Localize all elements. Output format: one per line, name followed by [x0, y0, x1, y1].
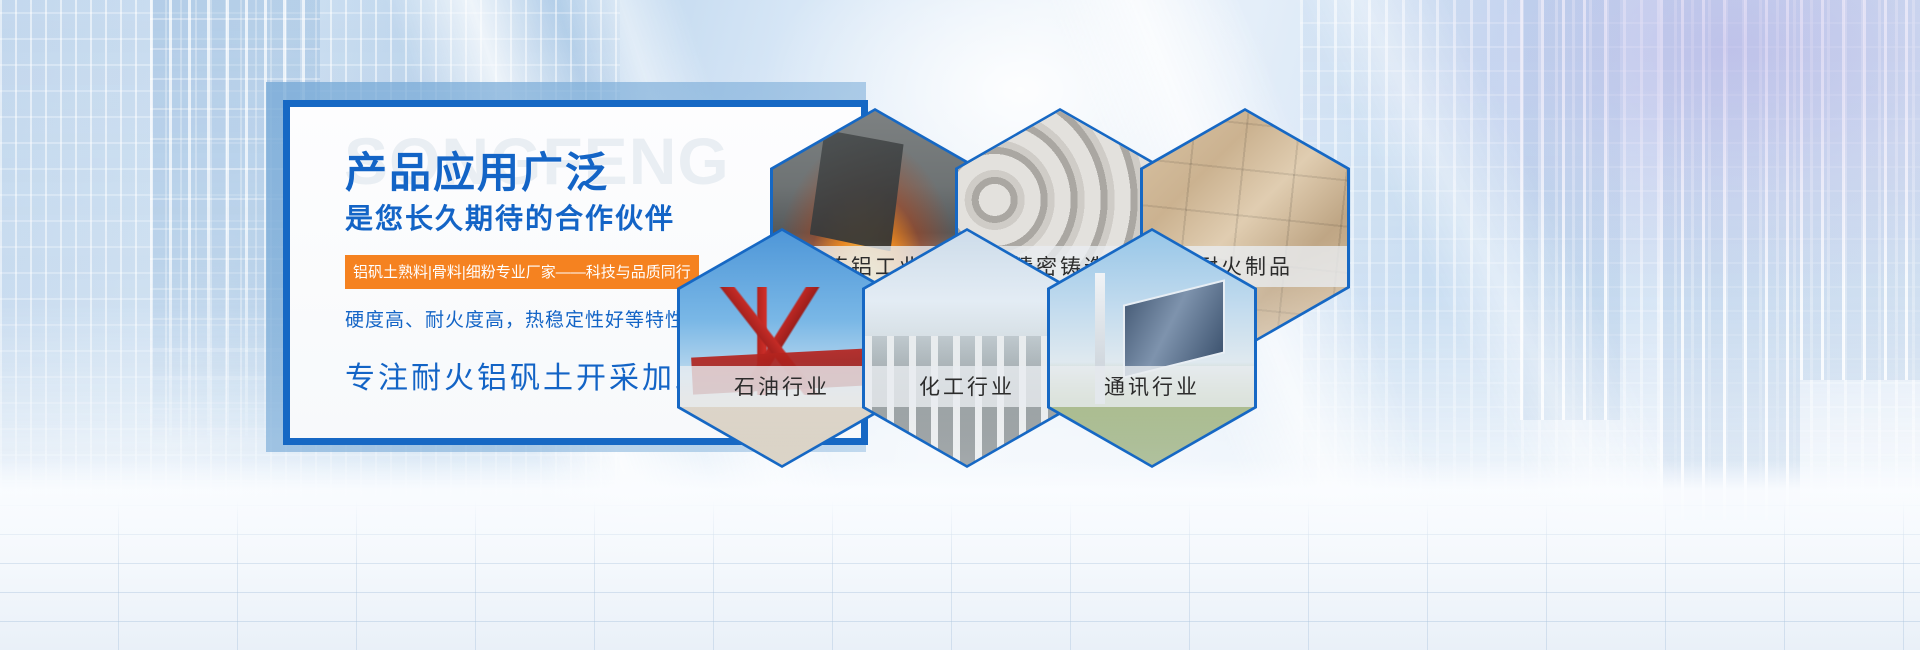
- tower-block-2: [1660, 0, 1800, 520]
- tagline: 专注耐火铝矾土开采加工: [345, 353, 708, 397]
- tower-block-1: [1520, 0, 1620, 420]
- headline: 产品应用广泛: [345, 139, 609, 200]
- subheadline: 是您长久期待的合作伙伴: [345, 197, 675, 237]
- tower-block-3: [1800, 0, 1920, 380]
- orange-ribbon: 铝矾土熟料|骨料|细粉专业厂家——科技与品质同行: [345, 255, 699, 289]
- feature-text: 硬度高、耐火度高，热稳定性好等特性: [345, 305, 685, 332]
- hex-label: 石油行业: [680, 366, 884, 407]
- promo-banner: SONGFENG 产品应用广泛 是您长久期待的合作伙伴 铝矾土熟料|骨料|细粉专…: [0, 0, 1920, 650]
- industry-hex-gallery: 炼铝工业 精密铸造 耐火制品 石油行业: [665, 80, 1285, 500]
- plaza-floor-grid: [0, 500, 1920, 650]
- hex-label: 化工行业: [865, 366, 1069, 407]
- hex-label: 通讯行业: [1050, 366, 1254, 407]
